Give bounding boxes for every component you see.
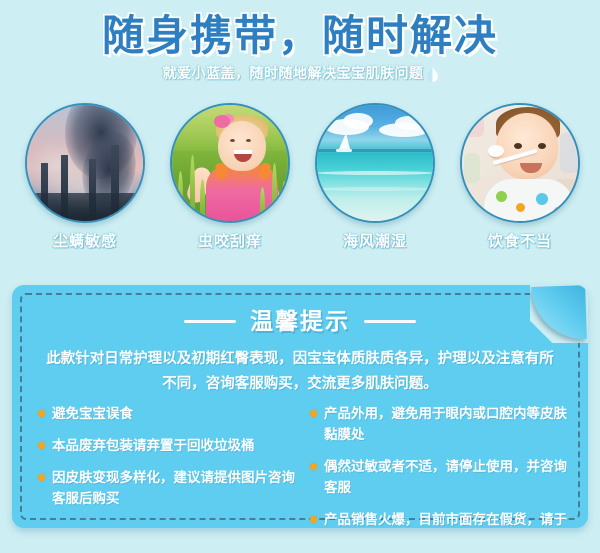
heading-rule-left (184, 320, 236, 323)
beach-sea-sailboat-photo (315, 103, 435, 223)
list-item: 因皮肤变现多样化，建议请提供图片咨询客服后购买 (38, 467, 296, 509)
cause-caption: 虫咬刮痒 (155, 232, 305, 252)
bullet-dot-icon (310, 410, 317, 417)
list-item: 本品废弃包装请弃置于回收垃圾桶 (38, 435, 296, 456)
list-item: 产品销售火爆，目前市面存在假货，请于指定渠道购买 (310, 509, 568, 528)
bullet-text: 避免宝宝误食 (52, 403, 133, 424)
bullet-text: 本品废弃包装请弃置于回收垃圾桶 (52, 435, 255, 456)
baby-in-grass-photo (170, 103, 290, 223)
page-title: 随身携带，随时解决 (0, 10, 600, 62)
cause-caption: 饮食不当 (445, 232, 595, 252)
cause-caption: 海风潮湿 (300, 232, 450, 252)
bullet-text: 因皮肤变现多样化，建议请提供图片咨询客服后购买 (52, 467, 296, 509)
bullet-text: 产品销售火爆，目前市面存在假货，请于指定渠道购买 (324, 509, 568, 528)
baby-eating-spoon-photo (460, 103, 580, 223)
bullet-dot-icon (38, 410, 45, 417)
product-detail-page: 随身携带，随时解决 就爱小蓝盖，随时随地解决宝宝肌肤问题 (0, 0, 600, 553)
tips-paragraph: 此款针对日常护理以及初期红臀表现，因宝宝体质肤质各异，护理以及注意有所不同，咨询… (46, 347, 554, 397)
page-subtitle: 就爱小蓝盖，随时随地解决宝宝肌肤问题 (163, 64, 424, 82)
leaf-drop-icon (427, 67, 438, 82)
heading-rule-right (364, 320, 416, 323)
cause-item-sea-humidity: 海风潮湿 (300, 100, 450, 252)
tips-title: 温馨提示 (250, 307, 350, 335)
bullet-text: 偶然过敏或者不适，请停止使用，并咨询客服 (324, 456, 568, 498)
list-item: 偶然过敏或者不适，请停止使用，并咨询客服 (310, 456, 568, 498)
cause-item-insect-bite: 虫咬刮痒 (155, 100, 305, 252)
cause-caption: 尘螨敏感 (10, 232, 160, 252)
warm-tips-panel: 温馨提示 此款针对日常护理以及初期红臀表现，因宝宝体质肤质各异，护理以及注意有所… (12, 285, 588, 528)
cause-circles-row: 尘螨敏感 (0, 100, 600, 260)
bullet-text: 产品外用，避免用于眼内或口腔内等皮肤黏膜处 (324, 403, 568, 445)
cause-item-improper-diet: 饮食不当 (445, 100, 595, 252)
list-item: 产品外用，避免用于眼内或口腔内等皮肤黏膜处 (310, 403, 568, 445)
tips-bullets-right: 产品外用，避免用于眼内或口腔内等皮肤黏膜处 偶然过敏或者不适，请停止使用，并咨询… (310, 403, 568, 528)
bullet-dot-icon (38, 442, 45, 449)
tips-bullets-left: 避免宝宝误食 本品废弃包装请弃置于回收垃圾桶 因皮肤变现多样化，建议请提供图片咨… (38, 403, 296, 528)
bullet-dot-icon (38, 474, 45, 481)
cause-item-dust-mite: 尘螨敏感 (10, 100, 160, 252)
tips-bullet-columns: 避免宝宝误食 本品废弃包装请弃置于回收垃圾桶 因皮肤变现多样化，建议请提供图片咨… (38, 403, 568, 528)
bullet-dot-icon (310, 463, 317, 470)
tips-heading-row: 温馨提示 (12, 307, 588, 335)
page-subtitle-row: 就爱小蓝盖，随时随地解决宝宝肌肤问题 (0, 64, 600, 82)
pollution-smokestacks-photo (25, 103, 145, 223)
bullet-dot-icon (310, 516, 317, 523)
list-item: 避免宝宝误食 (38, 403, 296, 424)
page-header: 随身携带，随时解决 就爱小蓝盖，随时随地解决宝宝肌肤问题 (0, 0, 600, 95)
